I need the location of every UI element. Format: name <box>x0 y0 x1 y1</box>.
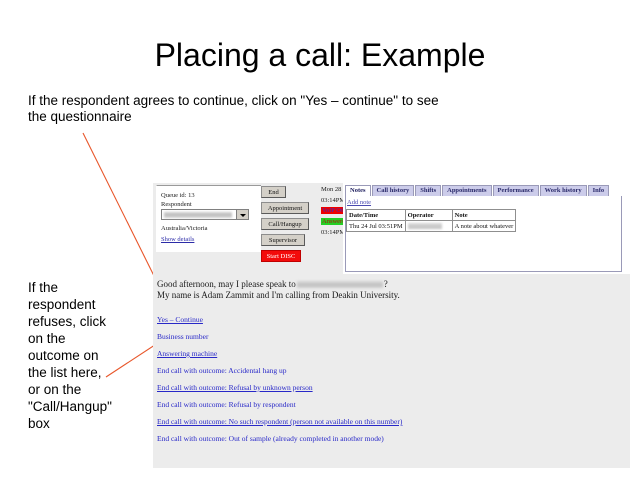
tab-call-history[interactable]: Call history <box>372 185 415 196</box>
appointment-button[interactable]: Appointment <box>261 202 309 214</box>
cell-note: A note about whatever <box>452 221 516 232</box>
table-header-row: Date/Time Operator Note <box>347 210 516 221</box>
operator-tabs-panel: NotesCall historyShiftsAppointmentsPerfo… <box>343 183 630 274</box>
script-line-1-before: Good afternoon, may I please speak to <box>157 279 296 289</box>
tab-work-history[interactable]: Work history <box>540 185 587 196</box>
outcome-links-list: Yes – Continue Business number Answering… <box>157 315 627 451</box>
show-details-link[interactable]: Show details <box>161 235 194 244</box>
tabstrip: NotesCall historyShiftsAppointmentsPerfo… <box>345 185 610 196</box>
page-title: Placing a call: Example <box>0 37 640 74</box>
tab-performance[interactable]: Performance <box>493 185 539 196</box>
script-line-1: Good afternoon, may I please speak to? <box>157 279 627 290</box>
tab-notes[interactable]: Notes <box>345 185 371 196</box>
column-operator: Operator <box>405 210 452 221</box>
outcome-no-such-respondent[interactable]: End call with outcome: No such responden… <box>157 417 627 426</box>
end-button[interactable]: End <box>261 186 286 198</box>
slide-canvas: Placing a call: Example If the responden… <box>0 0 640 480</box>
script-line-2: My name is Adam Zammit and I'm calling f… <box>157 290 627 301</box>
outcome-answering-machine[interactable]: Answering machine <box>157 349 627 358</box>
tab-appointments[interactable]: Appointments <box>442 185 491 196</box>
queue-id-label: Queue id: 13 <box>161 191 195 200</box>
cell-operator <box>405 221 452 232</box>
redacted-respondent-name <box>164 212 232 218</box>
column-datetime: Date/Time <box>347 210 406 221</box>
script-line-1-after: ? <box>384 279 388 289</box>
start-disc-button[interactable]: Start DISC <box>261 250 301 262</box>
tab-shifts[interactable]: Shifts <box>415 185 441 196</box>
call-action-buttons: End Appointment Call/Hangup Supervisor S… <box>261 186 316 266</box>
respondent-panel: Queue id: 13 Respondent Australia/Victor… <box>156 185 261 252</box>
tab-panel-border <box>345 196 622 272</box>
respondent-label: Respondent <box>161 200 192 209</box>
status-time-top: 03:14PM <box>321 197 345 204</box>
respondent-select[interactable] <box>161 209 249 220</box>
callout-top-text: If the respondent agrees to continue, cl… <box>28 93 458 125</box>
application-screenshot: Queue id: 13 Respondent Australia/Victor… <box>153 183 630 468</box>
tab-info[interactable]: Info <box>588 185 610 196</box>
timezone-label: Australia/Victoria <box>161 224 208 233</box>
redacted-operator-name <box>408 223 442 229</box>
redacted-respondent-name-script <box>297 281 383 288</box>
call-hangup-button[interactable]: Call/Hangup <box>261 218 309 230</box>
supervisor-button[interactable]: Supervisor <box>261 234 305 246</box>
notes-table: Date/Time Operator Note Thu 24 Jul 03:51… <box>346 209 516 232</box>
outcome-business-number[interactable]: Business number <box>157 332 627 341</box>
app-top-strip: Queue id: 13 Respondent Australia/Victor… <box>153 183 630 274</box>
cell-datetime: Thu 24 Jul 03:51PM <box>347 221 406 232</box>
outcome-accidental-hangup[interactable]: End call with outcome: Accidental hang u… <box>157 366 627 375</box>
outcome-out-of-sample[interactable]: End call with outcome: Out of sample (al… <box>157 434 627 443</box>
add-note-link[interactable]: Add note <box>347 199 371 206</box>
call-script: Good afternoon, may I please speak to? M… <box>157 279 627 301</box>
table-row[interactable]: Thu 24 Jul 03:51PM A note about whatever <box>347 221 516 232</box>
column-note: Note <box>452 210 516 221</box>
outcome-refusal-unknown-person[interactable]: End call with outcome: Refusal by unknow… <box>157 383 627 392</box>
chevron-down-icon[interactable] <box>236 210 248 219</box>
callout-left-text: If the respondent refuses, click on the … <box>28 279 114 432</box>
status-time-bottom: 03:14PM <box>321 229 345 236</box>
outcome-refusal-respondent[interactable]: End call with outcome: Refusal by respon… <box>157 400 627 409</box>
outcome-yes-continue[interactable]: Yes – Continue <box>157 315 627 324</box>
